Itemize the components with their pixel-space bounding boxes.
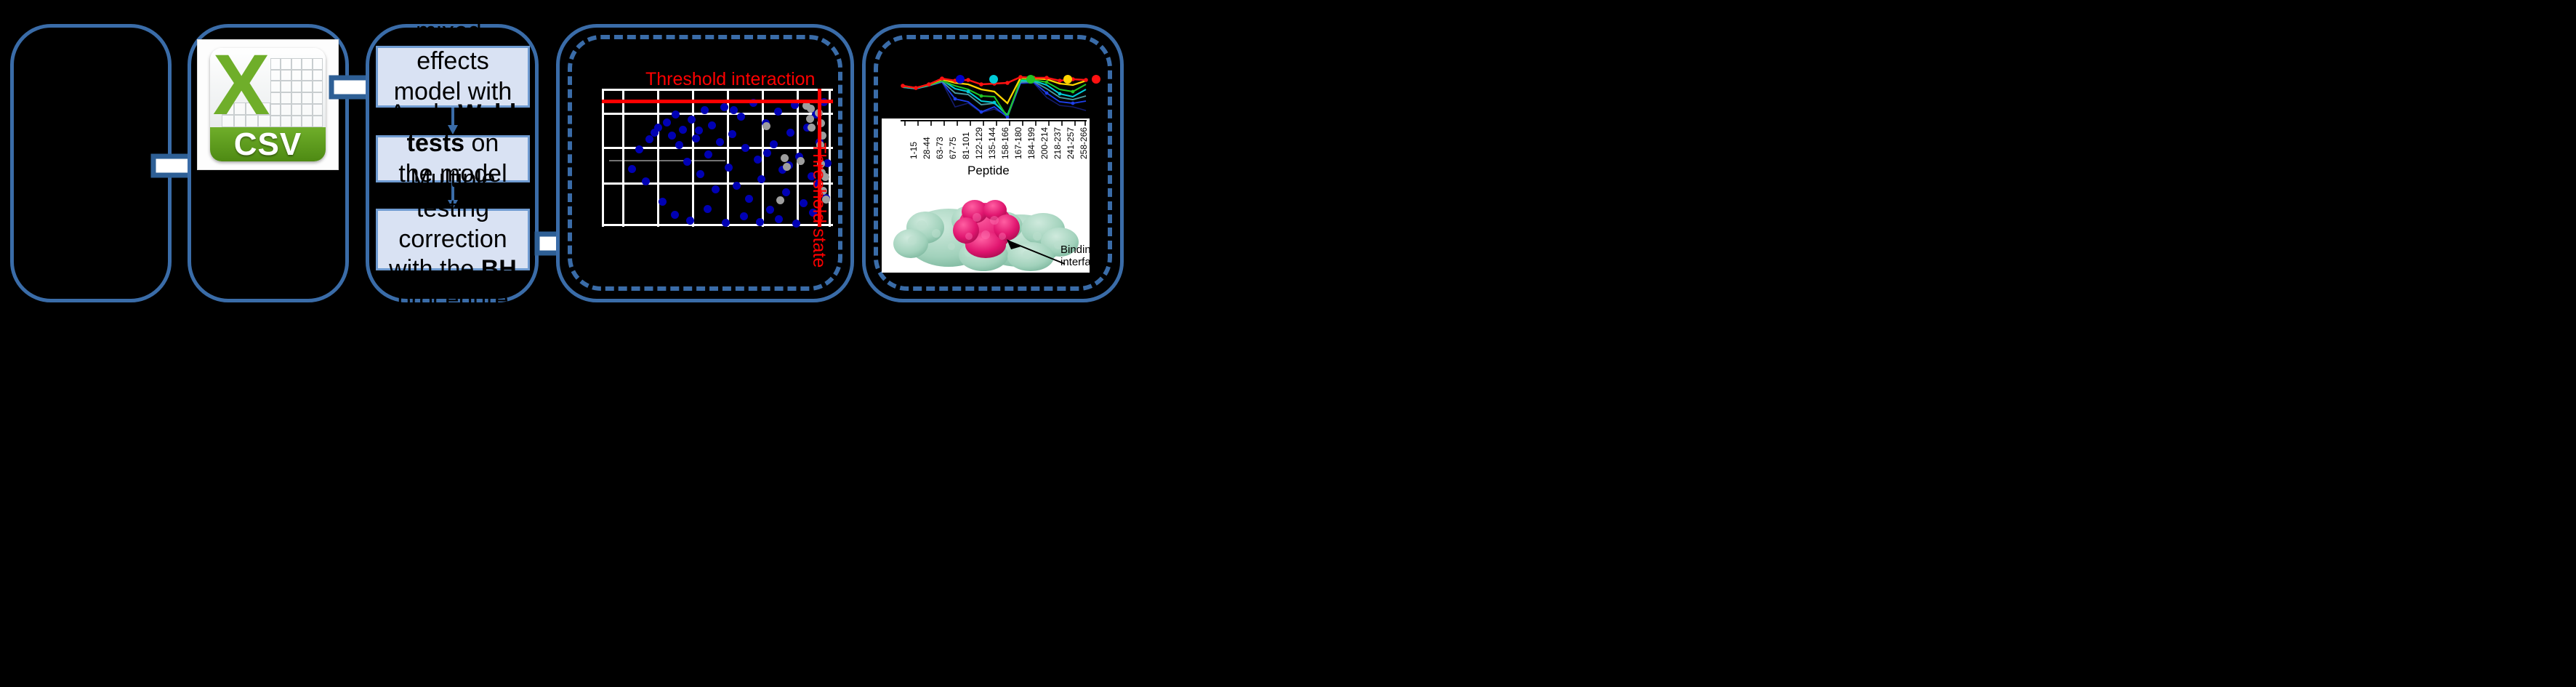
- threshold-state-label: Threshold state: [808, 142, 829, 268]
- scatter-point-ns: [781, 154, 789, 162]
- step-multiple-testing-text: Multiple testingcorrectionwith the BH pr…: [385, 164, 520, 315]
- csv-grid-upper: [270, 58, 323, 128]
- binding-interface-annotation: Binding interface: [1060, 244, 1090, 269]
- scatter-point: [688, 116, 696, 124]
- x-tick-label: 135-144: [987, 127, 997, 159]
- empty-panel-1: [10, 24, 172, 302]
- scatter-point: [728, 130, 736, 138]
- scatter-point: [651, 129, 659, 137]
- scatter-point: [763, 149, 771, 157]
- scatter-point: [720, 103, 728, 111]
- csv-file-icon: X CSV: [198, 40, 338, 169]
- x-tick-label: 241-257: [1066, 127, 1076, 159]
- legend-dot: [1092, 75, 1100, 84]
- scatter-plot: [602, 89, 833, 227]
- x-tick-label: 218-237: [1052, 127, 1063, 159]
- diagram-canvas: X CSV Fit a linear mixed-effects model w…: [0, 0, 2576, 687]
- scatter-point: [679, 126, 687, 134]
- gridline-v: [657, 89, 659, 227]
- scatter-point: [757, 175, 765, 183]
- scatter-point: [716, 138, 724, 146]
- scatter-point: [792, 220, 800, 228]
- scatter-point: [782, 188, 790, 196]
- scatter-point: [712, 185, 720, 193]
- legend-dot: [989, 75, 998, 84]
- protein-structure-image: [882, 185, 1090, 273]
- scatter-point: [722, 219, 730, 227]
- legend-dot: [1063, 75, 1072, 84]
- scatter-point: [725, 164, 733, 172]
- scatter-point: [659, 198, 667, 206]
- gridline-v: [602, 89, 604, 227]
- scatter-point: [675, 141, 683, 149]
- gridline-v: [692, 89, 694, 227]
- scatter-point-ns: [808, 124, 816, 132]
- scatter-point: [786, 129, 794, 137]
- scatter-point: [628, 165, 636, 173]
- scatter-point: [701, 106, 709, 114]
- scatter-point: [668, 132, 676, 140]
- x-tick-label: 1-15: [909, 142, 919, 159]
- scatter-point: [635, 145, 643, 153]
- scatter-point: [704, 150, 712, 158]
- scatter-point: [775, 215, 783, 223]
- scatter-point: [745, 195, 753, 203]
- scatter-point: [741, 144, 749, 152]
- x-axis-title: Peptide: [967, 164, 1010, 178]
- scatter-point: [695, 126, 703, 134]
- scatter-point-ns: [776, 196, 784, 204]
- x-tick-label: 277-284: [1089, 127, 1090, 159]
- scatter-point: [740, 212, 748, 220]
- line-chart-svg: [900, 67, 1102, 124]
- x-tick-label: 63-73: [935, 137, 945, 159]
- scatter-point: [704, 205, 712, 213]
- x-tick-label: 81-101: [961, 132, 971, 159]
- scatter-point-ns: [806, 115, 814, 123]
- legend-dot: [1026, 75, 1035, 84]
- x-tick-label: 184-199: [1026, 127, 1037, 159]
- gridline-dotted: [609, 160, 725, 161]
- scatter-point: [692, 134, 700, 142]
- gridline-v: [762, 89, 764, 227]
- step-multiple-testing: Multiple testingcorrectionwith the BH pr…: [376, 209, 530, 270]
- scatter-point: [683, 158, 691, 166]
- threshold-interaction-line: [602, 100, 833, 103]
- scatter-point: [800, 199, 808, 207]
- csv-x-letter: X: [215, 52, 268, 118]
- csv-label: CSV: [234, 126, 302, 161]
- scatter-point-ns: [762, 122, 770, 130]
- legend-dot: [956, 75, 965, 84]
- scatter-point-ns: [797, 157, 805, 165]
- scatter-point: [730, 106, 738, 114]
- x-tick-label: 158-166: [1000, 127, 1010, 159]
- scatter-point: [672, 111, 680, 118]
- scatter-point: [754, 156, 762, 164]
- scatter-point: [733, 182, 741, 190]
- scatter-point: [770, 140, 778, 148]
- x-tick-label: 167-180: [1013, 127, 1023, 159]
- gridline-v: [622, 89, 624, 227]
- scatter-point-ns: [783, 163, 791, 171]
- threshold-interaction-label: Threshold interaction: [645, 69, 815, 90]
- scatter-point-ns: [807, 105, 815, 113]
- binding-interface-line2: interface: [1060, 256, 1090, 268]
- x-tick-label: 67-75: [948, 137, 958, 159]
- peptide-line-chart: [900, 67, 1102, 124]
- scatter-point: [686, 217, 694, 225]
- x-tick-label: 258-266: [1079, 127, 1089, 159]
- scatter-point: [645, 135, 653, 143]
- scatter-point: [671, 211, 679, 219]
- x-tick-label: 28-44: [922, 137, 932, 159]
- scatter-point: [737, 113, 745, 121]
- csv-label-band: CSV: [210, 127, 325, 161]
- scatter-point: [708, 121, 716, 129]
- binding-interface-line1: Binding: [1060, 244, 1090, 256]
- scatter-point: [756, 218, 764, 226]
- scatter-point: [766, 206, 774, 214]
- scatter-point: [663, 118, 671, 126]
- scatter-point: [696, 170, 704, 178]
- peptide-figure-card: 0.0 1-1528-4463-7367-7581-101122-129135-…: [882, 118, 1090, 273]
- scatter-point: [642, 177, 650, 185]
- x-tick-label: 200-214: [1039, 127, 1050, 159]
- csv-icon-card: X CSV: [210, 48, 325, 162]
- x-tick-label: 122-129: [974, 127, 984, 159]
- scatter-point: [774, 108, 782, 116]
